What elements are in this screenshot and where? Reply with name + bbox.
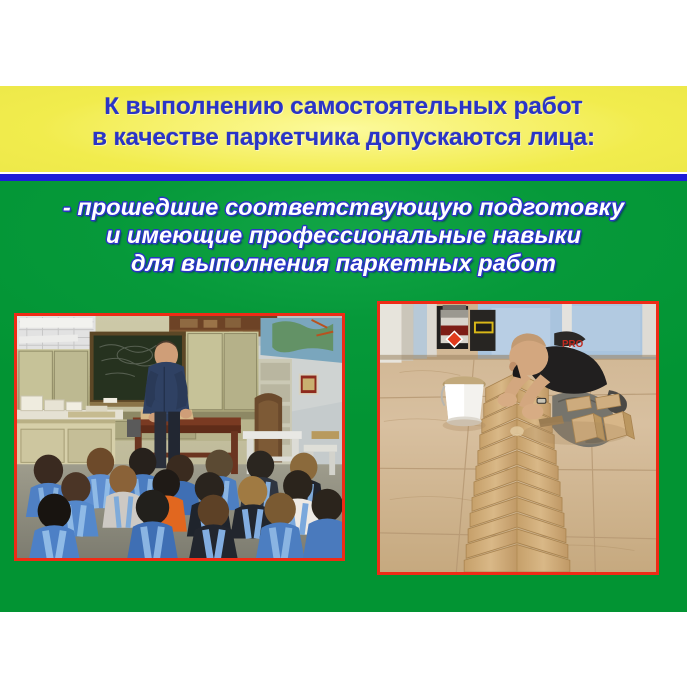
svg-text:PRO: PRO	[562, 339, 584, 350]
body-text-line-2: и имеющие профессиональные навыки	[0, 221, 687, 250]
body-text-line-3: для выполнения паркетных работ	[0, 249, 687, 278]
header-band: К выполнению самостоятельных работ в кач…	[0, 86, 687, 172]
classroom-illustration	[17, 316, 342, 558]
parquet-installation-photo: PRO	[377, 301, 659, 575]
glue-bucket	[442, 376, 486, 426]
training-classroom-photo	[14, 313, 345, 561]
parquet-illustration: PRO	[380, 304, 656, 572]
header-title-line-1: К выполнению самостоятельных работ	[0, 91, 687, 122]
header-title-line-2: в качестве паркетчика допускаются лица:	[0, 122, 687, 153]
header-divider	[0, 174, 687, 181]
body-text-line-1: - прошедшие соответствующую подготовку	[0, 193, 687, 222]
slide-root: К выполнению самостоятельных работ в кач…	[0, 0, 700, 700]
